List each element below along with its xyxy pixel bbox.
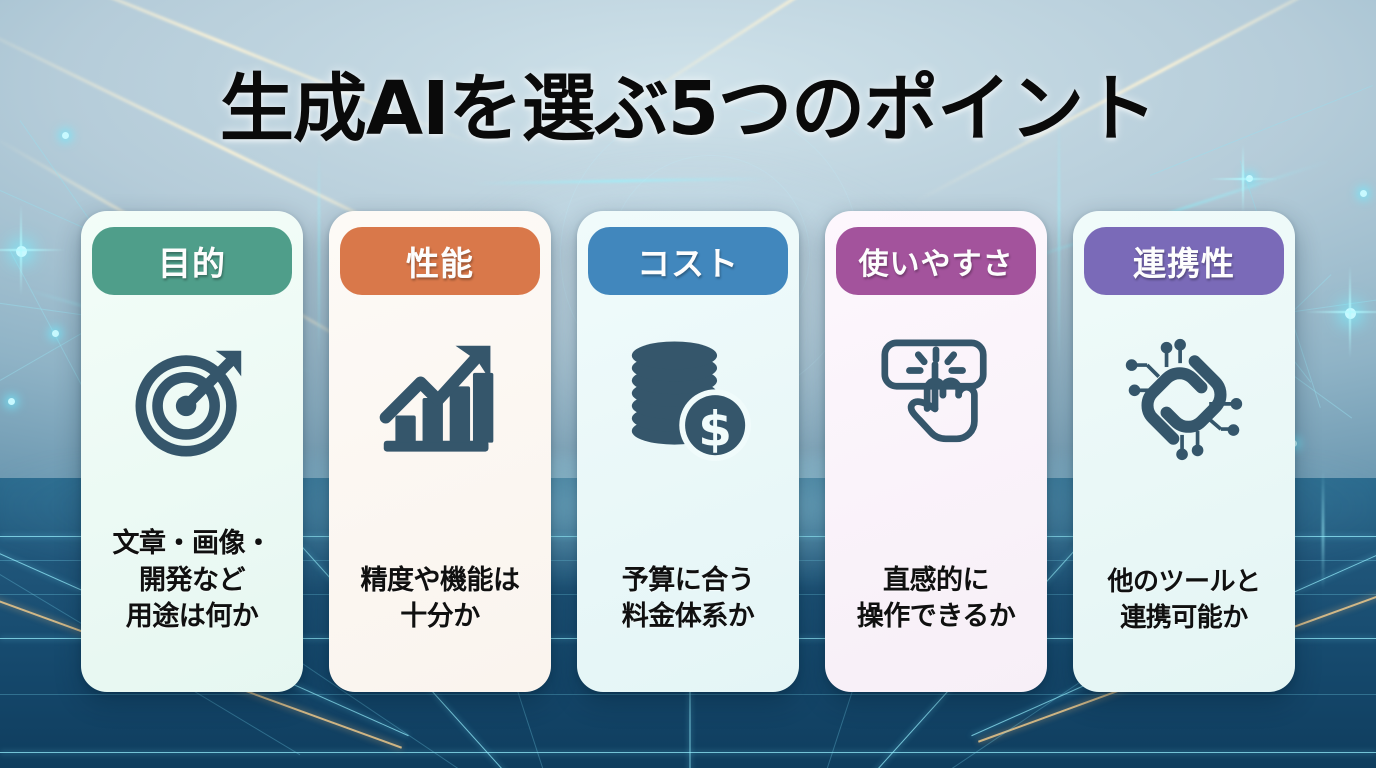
- desc-line: 料金体系か: [622, 599, 755, 636]
- desc-line: 文章・画像・: [113, 526, 272, 563]
- page-title: 生成AIを選ぶ5つのポイント: [0, 72, 1376, 146]
- point-card-description: 文章・画像・ 開発など 用途は何か: [113, 526, 272, 636]
- point-card-badge: 目的: [92, 227, 292, 295]
- desc-line: 連携可能か: [1107, 601, 1260, 636]
- badge-label: 性能: [406, 237, 474, 285]
- desc-line: 精度や機能は: [361, 563, 520, 600]
- point-card-purpose[interactable]: 目的 文章・画像・ 開発など 用途は何か: [81, 211, 303, 692]
- badge-label: コスト: [637, 237, 739, 285]
- floor-gridline: [0, 752, 1376, 753]
- point-card-usability[interactable]: 使いやすさ 直感的に 操作できるか: [825, 211, 1047, 692]
- badge-label: 連携性: [1133, 237, 1235, 285]
- point-card-badge: 使いやすさ: [836, 227, 1036, 295]
- point-card-integration[interactable]: 連携性: [1073, 211, 1295, 692]
- point-card-cost[interactable]: コスト $ 予算に合う 料金体系か: [577, 211, 799, 692]
- growth-chart-icon: [376, 335, 504, 465]
- desc-line: 操作できるか: [857, 599, 1015, 636]
- coin-stack-dollar-icon: $: [624, 335, 752, 465]
- desc-line: 他のツールと: [1107, 565, 1260, 600]
- tap-click-icon: [874, 335, 998, 465]
- desc-line: 予算に合う: [622, 563, 755, 600]
- desc-line: 十分か: [361, 599, 520, 636]
- point-card-description: 予算に合う 料金体系か: [622, 563, 755, 636]
- node-flare: [1242, 144, 1244, 214]
- network-node: [1360, 190, 1367, 197]
- point-card-description: 精度や機能は 十分か: [361, 563, 520, 636]
- point-card-badge: 性能: [340, 227, 540, 295]
- badge-label: 目的: [158, 237, 226, 285]
- point-card-performance[interactable]: 性能 精度や機能は 十分か: [329, 211, 551, 692]
- point-card-badge: コスト: [588, 227, 788, 295]
- point-card-badge: 連携性: [1084, 227, 1284, 295]
- points-card-row: 目的 文章・画像・ 開発など 用途は何か 性能: [0, 211, 1376, 692]
- badge-label: 使いやすさ: [859, 239, 1014, 283]
- point-card-description: 他のツールと 連携可能か: [1107, 565, 1260, 636]
- target-arrow-icon: [129, 335, 255, 465]
- desc-line: 用途は何か: [113, 599, 272, 636]
- desc-line: 開発など: [113, 563, 272, 600]
- desc-line: 直感的に: [857, 563, 1015, 600]
- svg-text:$: $: [698, 402, 732, 458]
- floor-gridline: [0, 694, 1376, 695]
- chain-link-circuit-icon: [1120, 335, 1248, 465]
- point-card-description: 直感的に 操作できるか: [857, 563, 1015, 636]
